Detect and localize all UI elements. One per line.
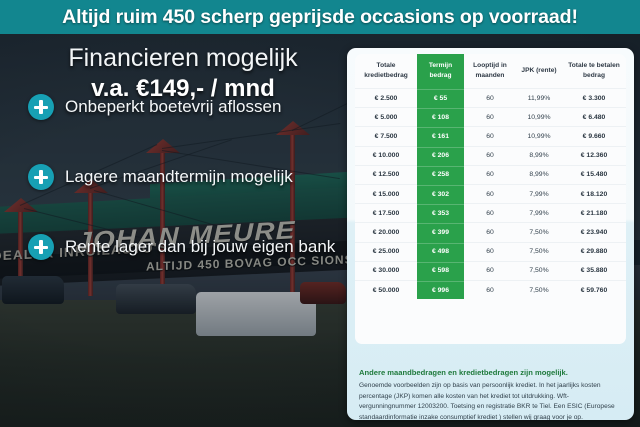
table-cell: € 23.940: [562, 223, 626, 242]
table-cell: € 15.000: [355, 185, 417, 204]
table-cell: € 30.000: [355, 261, 417, 280]
table-cell: € 996: [417, 280, 464, 299]
left-content-column: Financieren mogelijk v.a. €149,- / mnd O…: [0, 34, 345, 427]
table-cell: € 29.880: [562, 242, 626, 261]
table-cell: 10,99%: [516, 108, 562, 127]
col-header-duration: Looptijd in maanden: [464, 54, 516, 89]
table-cell: 60: [464, 223, 516, 242]
table-cell: € 15.480: [562, 165, 626, 184]
table-cell: € 7.500: [355, 127, 417, 146]
table-cell: € 399: [417, 223, 464, 242]
table-cell: € 12.500: [355, 165, 417, 184]
table-row: € 20.000€ 399607,50%€ 23.940: [355, 223, 626, 242]
table-cell: € 108: [417, 108, 464, 127]
table-cell: 60: [464, 108, 516, 127]
table-cell: 60: [464, 185, 516, 204]
headline-line-1: Financieren mogelijk: [24, 44, 342, 72]
table-cell: € 206: [417, 146, 464, 165]
table-cell: € 18.120: [562, 185, 626, 204]
table-header-row: Totale kredietbedrag Termijn bedrag Loop…: [355, 54, 626, 89]
table-cell: 60: [464, 146, 516, 165]
table-cell: € 353: [417, 204, 464, 223]
table-cell: € 12.360: [562, 146, 626, 165]
table-cell: € 35.880: [562, 261, 626, 280]
table-row: € 2.500€ 556011,99%€ 3.300: [355, 89, 626, 108]
table-row: € 50.000€ 996607,50%€ 59.760: [355, 280, 626, 299]
table-cell: 60: [464, 261, 516, 280]
table-cell: 60: [464, 204, 516, 223]
table-row: € 17.500€ 353607,99%€ 21.180: [355, 204, 626, 223]
table-body: € 2.500€ 556011,99%€ 3.300€ 5.000€ 10860…: [355, 89, 626, 300]
top-headline-bar: Altijd ruim 450 scherp geprijsde occasio…: [0, 0, 640, 34]
table-cell: 60: [464, 280, 516, 299]
finance-promo-banner: JOHAN MEURE DEALER INRUILAUTO'S ALTIJD 4…: [0, 0, 640, 427]
rates-table: Totale kredietbedrag Termijn bedrag Loop…: [355, 54, 626, 299]
table-cell: 7,50%: [516, 242, 562, 261]
table-cell: € 50.000: [355, 280, 417, 299]
table-row: € 7.500€ 1616010,99%€ 9.660: [355, 127, 626, 146]
table-cell: € 59.760: [562, 280, 626, 299]
table-row: € 10.000€ 206608,99%€ 12.360: [355, 146, 626, 165]
table-cell: € 161: [417, 127, 464, 146]
col-header-term-amount: Termijn bedrag: [417, 54, 464, 89]
table-row: € 30.000€ 598607,50%€ 35.880: [355, 261, 626, 280]
table-row: € 25.000€ 498607,50%€ 29.880: [355, 242, 626, 261]
col-header-total-payable: Totale te betalen bedrag: [562, 54, 626, 89]
table-cell: 8,99%: [516, 146, 562, 165]
table-cell: 60: [464, 242, 516, 261]
table-cell: 60: [464, 165, 516, 184]
table-cell: € 5.000: [355, 108, 417, 127]
table-cell: € 598: [417, 261, 464, 280]
table-cell: 7,99%: [516, 204, 562, 223]
table-row: € 5.000€ 1086010,99%€ 6.480: [355, 108, 626, 127]
table-cell: € 6.480: [562, 108, 626, 127]
table-cell: € 9.660: [562, 127, 626, 146]
benefit-item-3: Rente lager dan bij jouw eigen bank: [28, 234, 335, 260]
finance-table-card: Totale kredietbedrag Termijn bedrag Loop…: [347, 48, 634, 420]
table-cell: € 25.000: [355, 242, 417, 261]
table-cell: 7,50%: [516, 223, 562, 242]
benefit-item-2: Lagere maandtermijn mogelijk: [28, 164, 293, 190]
rates-table-panel: Totale kredietbedrag Termijn bedrag Loop…: [355, 54, 626, 344]
benefit-label-3: Rente lager dan bij jouw eigen bank: [65, 237, 335, 257]
table-row: € 15.000€ 302607,99%€ 18.120: [355, 185, 626, 204]
col-header-total-credit: Totale kredietbedrag: [355, 54, 417, 89]
top-headline-text: Altijd ruim 450 scherp geprijsde occasio…: [62, 6, 578, 29]
plus-icon: [28, 94, 54, 120]
table-cell: € 17.500: [355, 204, 417, 223]
benefit-label-2: Lagere maandtermijn mogelijk: [65, 167, 293, 187]
table-cell: 11,99%: [516, 89, 562, 108]
table-cell: € 498: [417, 242, 464, 261]
disclaimer-body: Genoemde voorbeelden zijn op basis van p…: [359, 381, 623, 420]
table-cell: € 20.000: [355, 223, 417, 242]
table-cell: 7,50%: [516, 280, 562, 299]
table-cell: € 10.000: [355, 146, 417, 165]
plus-icon: [28, 234, 54, 260]
col-header-jkp: JPK (rente): [516, 54, 562, 89]
disclaimer-block: Andere maandbedragen en kredietbedragen …: [359, 368, 623, 420]
benefit-label-1: Onbeperkt boetevrij aflossen: [65, 97, 281, 117]
table-cell: 60: [464, 89, 516, 108]
table-cell: 8,99%: [516, 165, 562, 184]
table-cell: € 55: [417, 89, 464, 108]
table-cell: 10,99%: [516, 127, 562, 146]
table-cell: € 302: [417, 185, 464, 204]
table-cell: € 21.180: [562, 204, 626, 223]
plus-icon: [28, 164, 54, 190]
table-row: € 12.500€ 258608,99%€ 15.480: [355, 165, 626, 184]
table-cell: € 3.300: [562, 89, 626, 108]
table-cell: € 2.500: [355, 89, 417, 108]
table-cell: 7,99%: [516, 185, 562, 204]
benefit-item-1: Onbeperkt boetevrij aflossen: [28, 94, 281, 120]
table-cell: 7,50%: [516, 261, 562, 280]
table-cell: € 258: [417, 165, 464, 184]
table-cell: 60: [464, 127, 516, 146]
disclaimer-heading: Andere maandbedragen en kredietbedragen …: [359, 368, 623, 377]
